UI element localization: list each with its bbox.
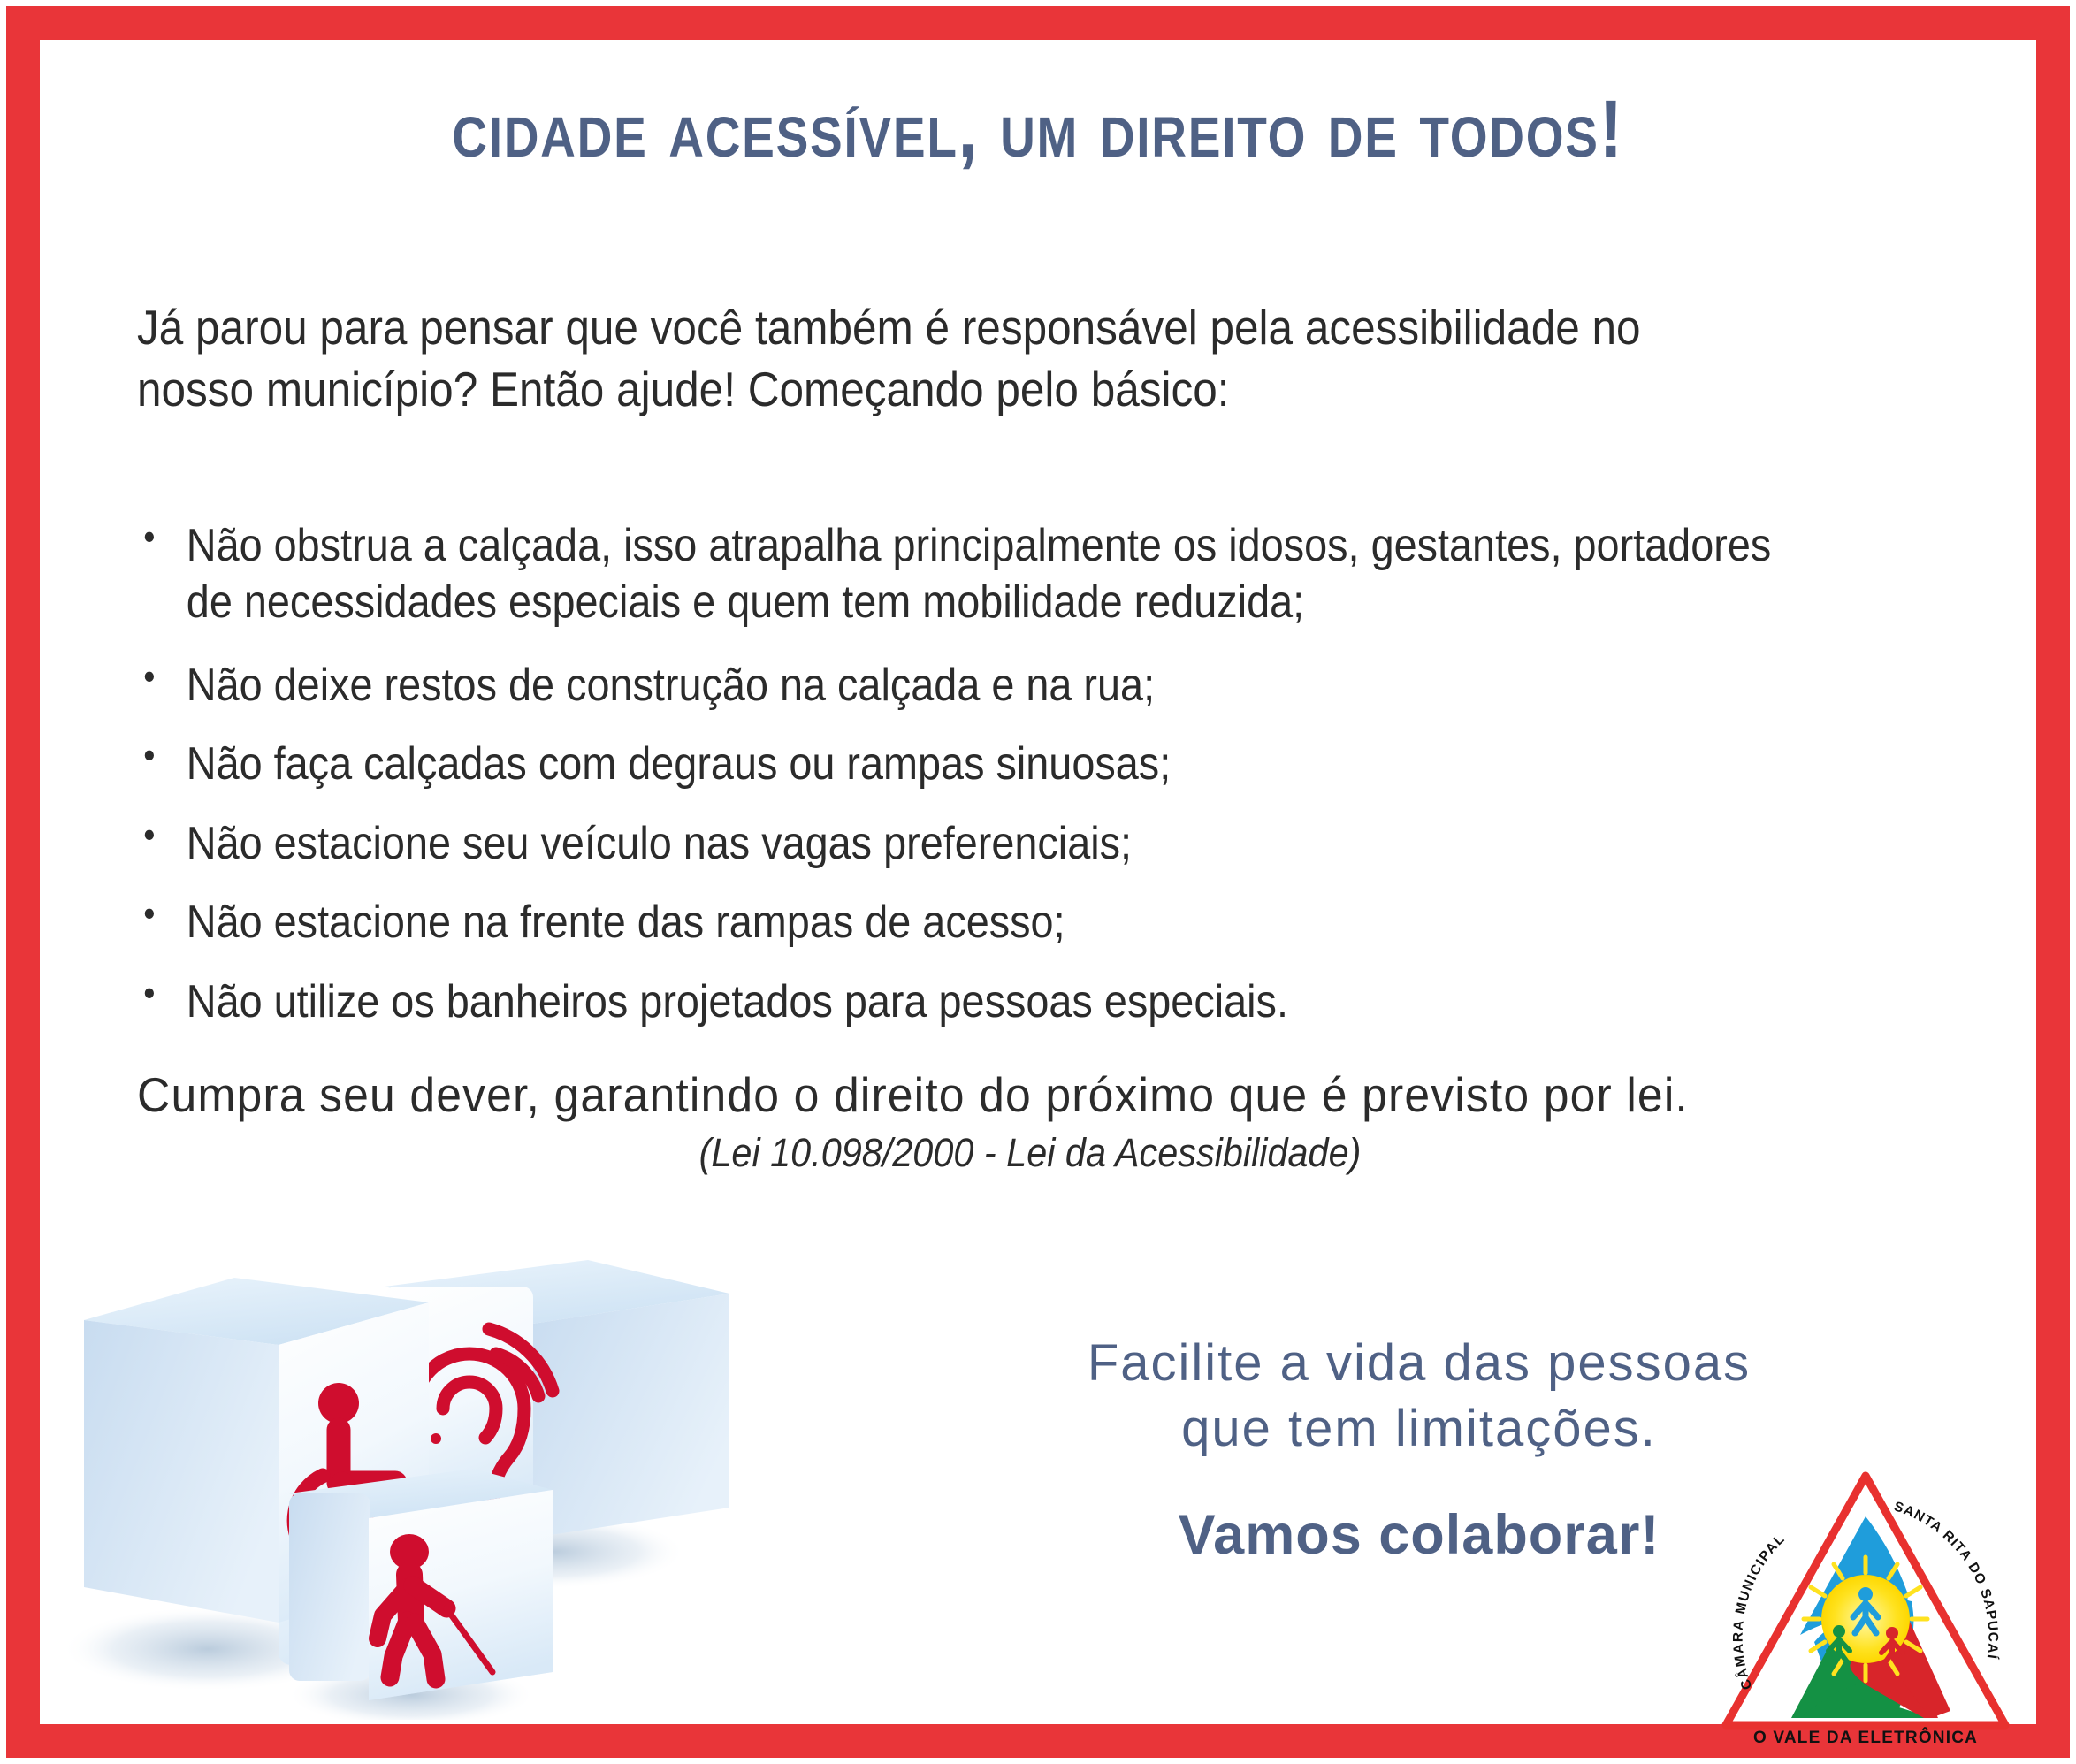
poster-root: Cidade acessível, um direito de todos! J…: [0, 0, 2076, 1764]
list-item-text: Não obstrua a calçada, isso atrapalha pr…: [187, 520, 1771, 628]
list-item-text: Não estacione seu veículo nas vagas pref…: [187, 818, 1132, 869]
list-item: Não faça calçadas com degraus ou rampas …: [137, 736, 1792, 792]
list-item-text: Não estacione na frente das rampas de ac…: [187, 897, 1065, 948]
list-item-text: Não utilize os banheiros projetados para…: [187, 976, 1288, 1027]
list-item: Não obstrua a calçada, isso atrapalha pr…: [137, 517, 1792, 631]
call-to-action: Vamos colaborar!: [1021, 1503, 1817, 1567]
logo-text-bottom: O VALE DA ELETRÔNICA: [1753, 1728, 1978, 1747]
camara-municipal-logo: CÂMARA MUNICIPAL SANTA RITA DO SAPUCAÍ O…: [1715, 1453, 2016, 1753]
list-item-text: Não faça calçadas com degraus ou rampas …: [187, 738, 1171, 790]
page-title: Cidade acessível, um direito de todos!: [179, 88, 1897, 170]
closing-statement: Cumpra seu dever, garantindo o direito d…: [137, 1065, 1858, 1124]
intro-paragraph: Já parou para pensar que você também é r…: [137, 296, 1760, 421]
poster-content: Cidade acessível, um direito de todos! J…: [40, 40, 2036, 1724]
call-message: Facilite a vida das pessoas que tem limi…: [1021, 1331, 1817, 1462]
list-item-text: Não deixe restos de construção na calçad…: [187, 660, 1155, 711]
list-item: Não estacione seu veículo nas vagas pref…: [137, 815, 1792, 872]
list-item: Não deixe restos de construção na calçad…: [137, 657, 1792, 714]
call-message-line1: Facilite a vida das pessoas: [1021, 1331, 1817, 1396]
law-reference: (Lei 10.098/2000 - Lei da Acessibilidade…: [209, 1130, 1851, 1176]
list-item: Não utilize os banheiros projetados para…: [137, 974, 1792, 1030]
call-message-line2: que tem limitações.: [1021, 1396, 1817, 1462]
rules-list: Não obstrua a calçada, isso atrapalha pr…: [137, 517, 1792, 1052]
cube-blind: [289, 1469, 553, 1700]
accessibility-cubes-illustration: [57, 1172, 959, 1720]
list-item: Não estacione na frente das rampas de ac…: [137, 894, 1792, 951]
